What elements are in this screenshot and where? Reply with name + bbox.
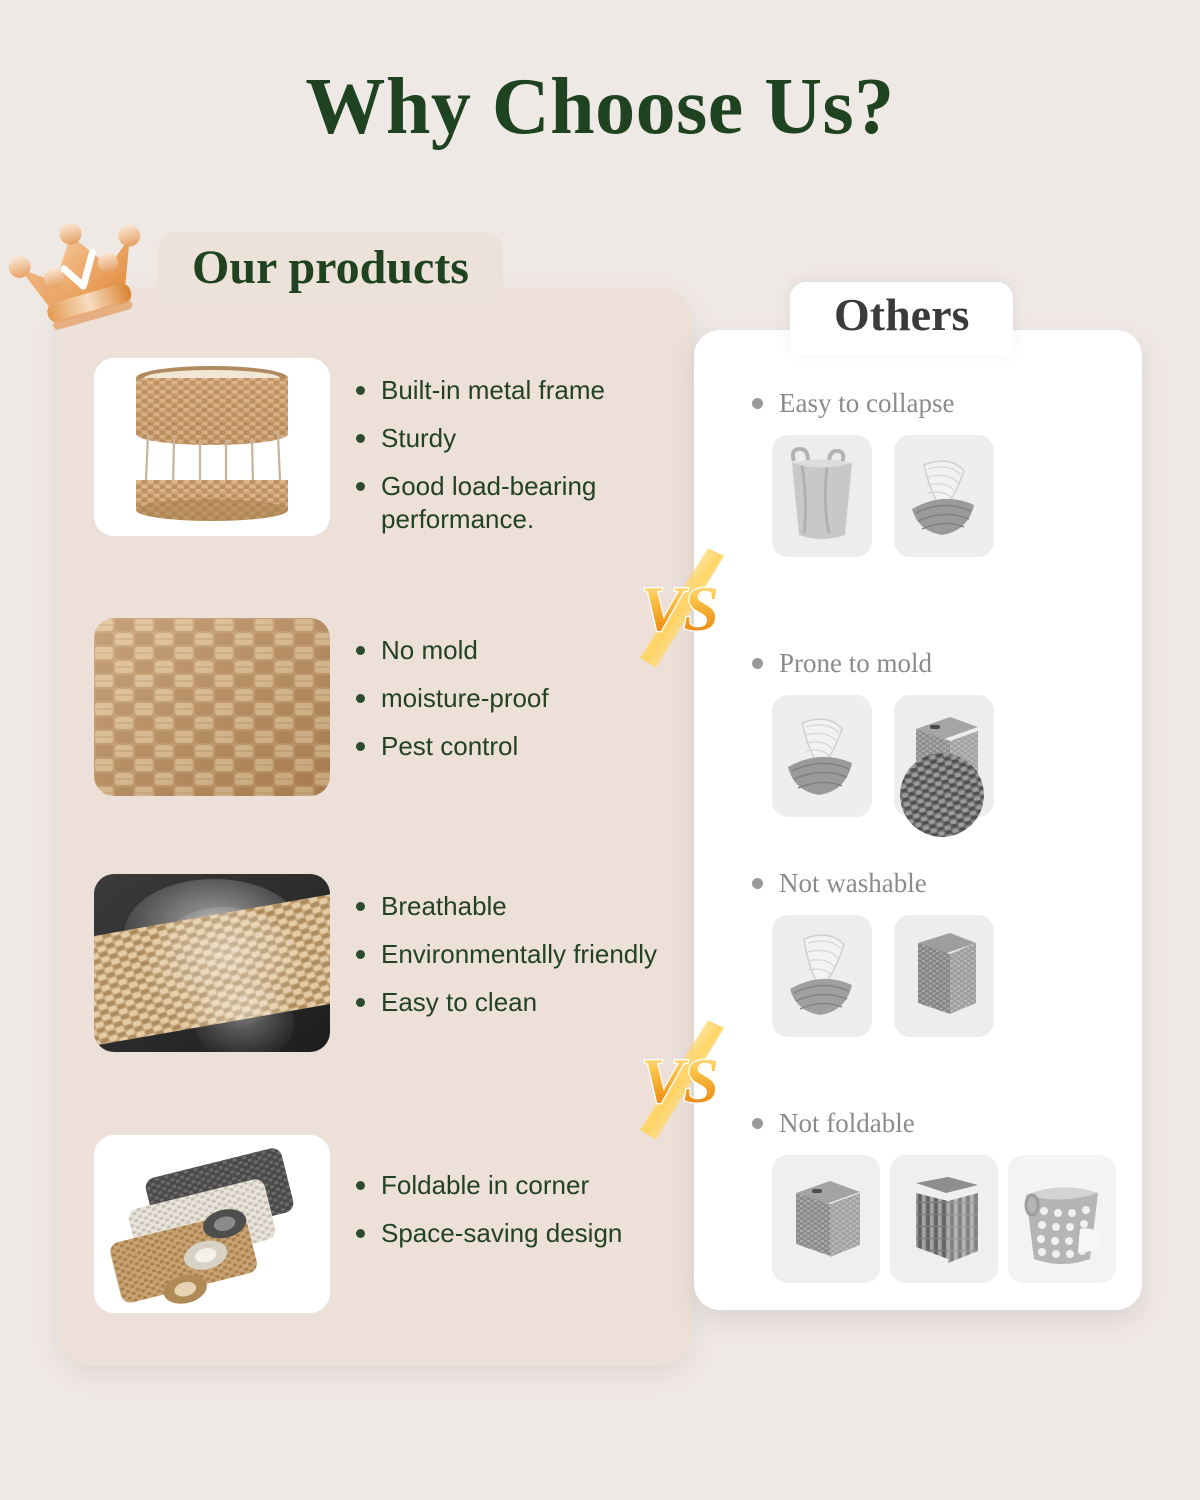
gray-hamper-with-lid-photo <box>772 1155 880 1283</box>
our-bullets-metal-frame: Built-in metal frame Sturdy Good load-be… <box>356 358 678 551</box>
bullet-text: Breathable <box>381 890 507 922</box>
list-item: Built-in metal frame <box>356 374 678 406</box>
vs-badge-bottom: VS <box>634 1020 726 1140</box>
our-bullets-foldable: Foldable in corner Space-saving design <box>356 1135 622 1265</box>
collapsed-woven-basket-photo <box>894 435 994 557</box>
bullet-dot-icon <box>356 998 365 1007</box>
collapsed-woven-basket-photo <box>772 915 872 1037</box>
gray-woven-hamper-photo <box>894 915 994 1037</box>
bullet-dot-icon <box>752 878 763 889</box>
other-row-prone-to-mold: Prone to mold <box>752 648 994 817</box>
crown-icon <box>8 212 156 337</box>
bullet-dot-icon <box>356 646 365 655</box>
our-products-heading: Our products <box>158 232 503 307</box>
bullet-dot-icon <box>356 482 365 491</box>
svg-text:VS: VS <box>641 1045 719 1116</box>
other-row-label-wrap: Not foldable <box>752 1108 1116 1139</box>
list-item: Breathable <box>356 890 657 922</box>
list-item: No mold <box>356 634 549 666</box>
list-item: moisture-proof <box>356 682 549 714</box>
bullet-dot-icon <box>356 1181 365 1190</box>
other-row-label: Easy to collapse <box>779 388 954 419</box>
our-row-foldable: Foldable in corner Space-saving design <box>94 1135 622 1313</box>
other-thumbs <box>752 1155 1116 1283</box>
svg-text:VS: VS <box>641 573 719 644</box>
other-row-label-wrap: Prone to mold <box>752 648 994 679</box>
our-bullets-no-mold: No mold moisture-proof Pest control <box>356 618 549 779</box>
other-thumbs <box>752 435 994 557</box>
bullet-text: Built-in metal frame <box>381 374 605 406</box>
other-row-label: Prone to mold <box>779 648 932 679</box>
woven-basket-metal-frame-photo <box>94 358 330 536</box>
other-row-not-foldable: Not foldable <box>752 1108 1116 1283</box>
bullet-text: Space-saving design <box>381 1217 622 1249</box>
bullet-dot-icon <box>356 386 365 395</box>
other-row-label-wrap: Easy to collapse <box>752 388 994 419</box>
gray-fabric-hamper-photo <box>772 435 872 557</box>
our-row-breathable: Breathable Environmentally friendly Easy… <box>94 874 657 1052</box>
bullet-text: moisture-proof <box>381 682 549 714</box>
bullet-dot-icon <box>356 950 365 959</box>
list-item: Easy to clean <box>356 986 657 1018</box>
list-item: Space-saving design <box>356 1217 622 1249</box>
page-title: Why Choose Us? <box>0 62 1200 153</box>
collapsed-woven-basket-photo <box>772 695 872 817</box>
bullet-dot-icon <box>356 902 365 911</box>
tall-woven-hamper-photo <box>890 1155 998 1283</box>
bullet-dot-icon <box>752 658 763 669</box>
bullet-text: Easy to clean <box>381 986 537 1018</box>
breathable-steam-basket-photo <box>94 874 330 1052</box>
mold-closeup-circle-photo <box>900 753 984 837</box>
bullet-dot-icon <box>752 398 763 409</box>
other-thumbs <box>752 695 994 817</box>
bullet-text: Environmentally friendly <box>381 938 657 970</box>
bullet-text: Foldable in corner <box>381 1169 589 1201</box>
vs-badge-top: VS <box>634 548 726 668</box>
other-row-label: Not foldable <box>779 1108 915 1139</box>
folded-woven-mats-photo <box>94 1135 330 1313</box>
list-item: Environmentally friendly <box>356 938 657 970</box>
our-row-no-mold: No mold moisture-proof Pest control <box>94 618 549 796</box>
bullet-text: Pest control <box>381 730 518 762</box>
bullet-text: Good load-bearing performance. <box>381 470 678 534</box>
bullet-text: Sturdy <box>381 422 456 454</box>
bullet-text: No mold <box>381 634 478 666</box>
bullet-dot-icon <box>356 1229 365 1238</box>
bullet-dot-icon <box>356 434 365 443</box>
other-row-label-wrap: Not washable <box>752 868 994 899</box>
other-row-not-washable: Not washable <box>752 868 994 1037</box>
bullet-dot-icon <box>356 742 365 751</box>
list-item: Pest control <box>356 730 549 762</box>
list-item: Good load-bearing performance. <box>356 470 678 534</box>
other-row-label: Not washable <box>779 868 927 899</box>
list-item: Sturdy <box>356 422 678 454</box>
our-row-metal-frame: Built-in metal frame Sturdy Good load-be… <box>94 358 678 551</box>
our-bullets-breathable: Breathable Environmentally friendly Easy… <box>356 874 657 1035</box>
bullet-dot-icon <box>752 1118 763 1129</box>
bullet-dot-icon <box>356 694 365 703</box>
list-item: Foldable in corner <box>356 1169 622 1201</box>
plastic-laundry-basket-photo <box>1008 1155 1116 1283</box>
others-heading: Others <box>790 282 1013 355</box>
other-row-easy-to-collapse: Easy to collapse <box>752 388 994 557</box>
other-thumbs <box>752 915 994 1037</box>
woven-rattan-texture-photo <box>94 618 330 796</box>
